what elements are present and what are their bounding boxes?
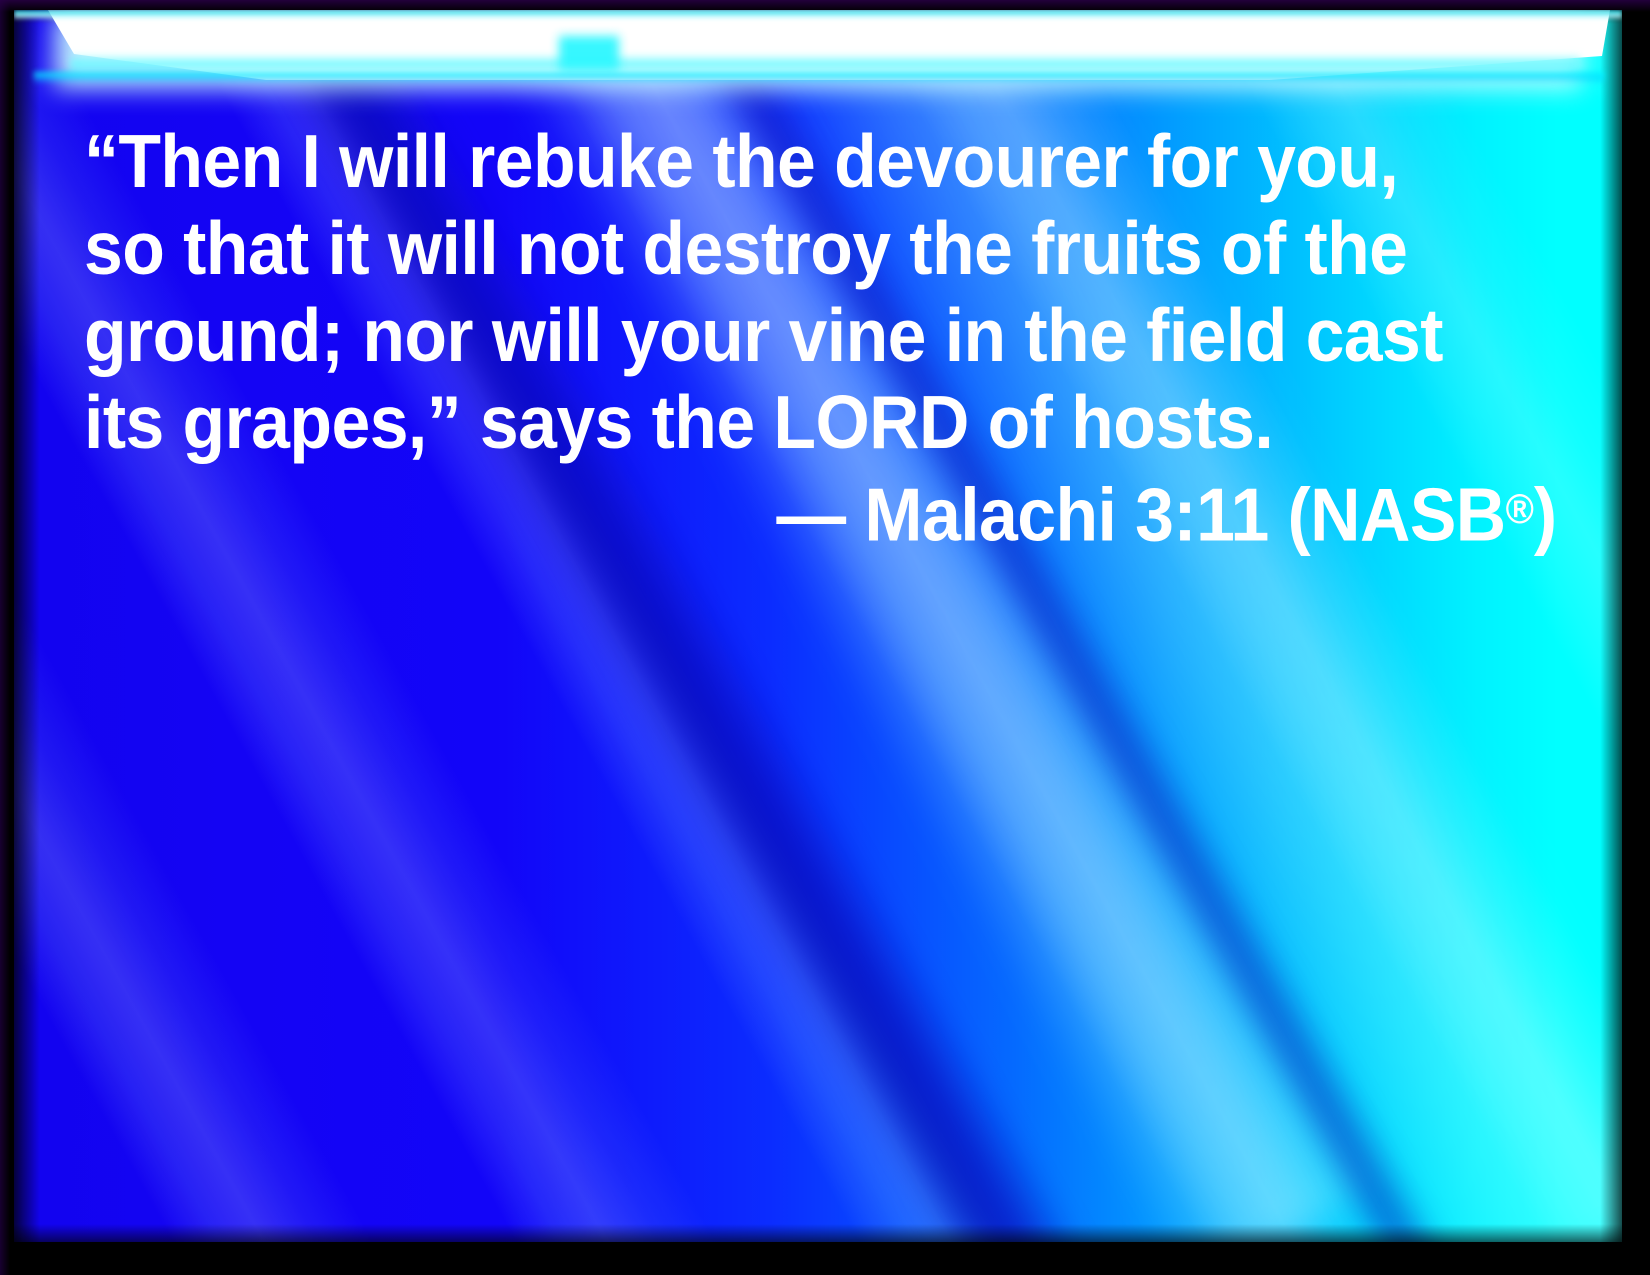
verse-text-block: “Then I will rebuke the devourer for you… xyxy=(84,118,1564,558)
banner-top-cyan-edge xyxy=(14,10,1622,20)
attribution-prefix: — Malachi 3:11 (NASB xyxy=(776,472,1505,556)
banner-bottom-cyan-edge xyxy=(34,72,1604,84)
verse-line-1: “Then I will rebuke the devourer for you… xyxy=(84,118,1460,205)
slide-artboard: “Then I will rebuke the devourer for you… xyxy=(14,10,1622,1242)
verse-attribution: — Malachi 3:11 (NASB®) xyxy=(188,466,1564,558)
banner-cyan-notch xyxy=(559,36,619,70)
banner-cyan-highlight-line xyxy=(70,54,1580,72)
verse-line-4: its grapes,” says the LORD of hosts. xyxy=(84,379,1460,466)
verse-line-3: ground; nor will your vine in the field … xyxy=(84,292,1460,379)
scripture-slide: “Then I will rebuke the devourer for you… xyxy=(0,0,1650,1275)
registered-trademark-icon: ® xyxy=(1506,486,1534,532)
top-glow-banner xyxy=(14,10,1622,88)
verse-line-2: so that it will not destroy the fruits o… xyxy=(84,205,1460,292)
attribution-suffix: ) xyxy=(1534,472,1557,556)
